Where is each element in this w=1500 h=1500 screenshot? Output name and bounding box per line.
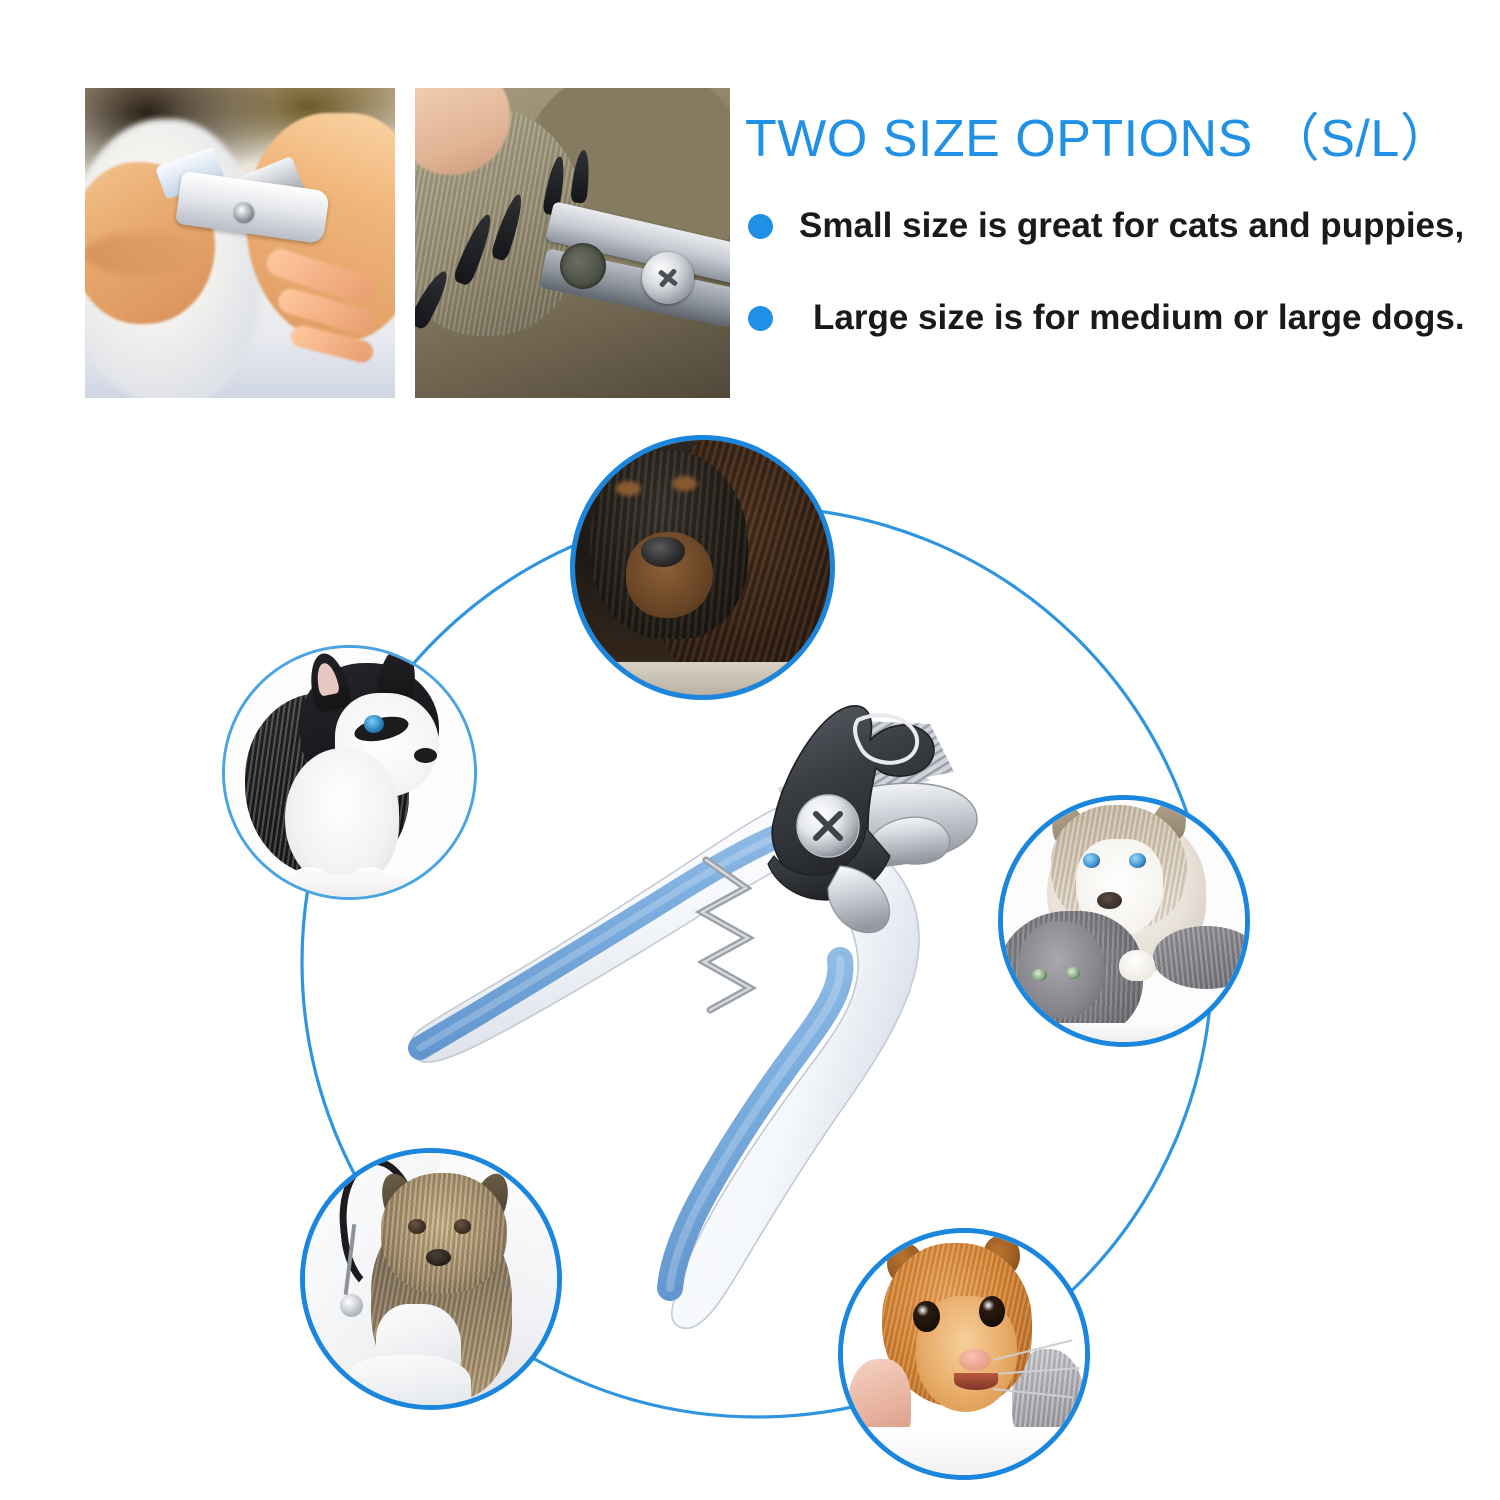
stethoscope-bell-icon [340,1294,363,1317]
duo-photo [1003,800,1245,1042]
bullet-dot-icon [748,214,773,239]
duo-puppy-nose [1097,892,1121,909]
product-nail-clipper [370,660,1010,1340]
pet-circle-puppy-and-kitten [998,795,1250,1047]
clipper-screw-small [234,203,254,223]
vet-glove-hand-lower [340,1355,471,1410]
duo-kitten-tail [1153,926,1250,989]
clipper-notch [560,243,606,289]
clipper-pivot-screw [642,252,694,304]
hamster-ledge [843,1427,1085,1475]
feature-bullet-small-size: Small size is great for cats and puppies… [748,206,1464,246]
photo-clipper-in-use [85,88,395,398]
feature-bullet-text: Large size is for medium or large dogs. [813,298,1465,338]
duo-puppy-eye-left [1083,853,1100,868]
page-title: TWO SIZE OPTIONS （S/L） [745,96,1452,171]
feature-bullet-large-size: Large size is for medium or large dogs. [748,298,1465,338]
product-infographic-page: { "page": { "background_color": "#ffffff… [0,0,1500,1500]
duo-kitten-head [1018,921,1105,1018]
duo-puppy-eye-right [1129,853,1146,868]
feature-bullet-text: Small size is great for cats and puppies… [799,206,1464,246]
duo-puppy-paw [1119,950,1155,981]
hamster-nose [959,1349,990,1371]
mastiff-photo [575,440,830,695]
duo-ground [1003,1023,1245,1042]
bullet-dot-icon [748,306,773,331]
photo-clipper-on-claws [415,88,730,398]
